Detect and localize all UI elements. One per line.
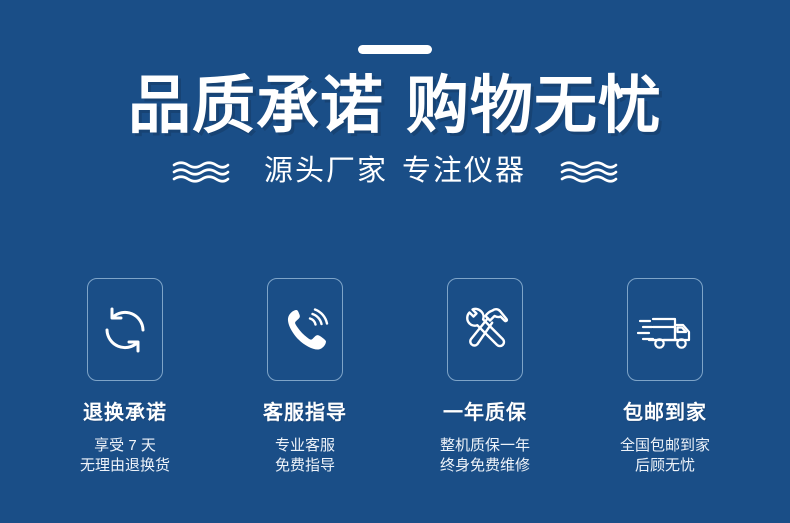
subtitle-part-1: 源头厂家 [264,155,388,187]
feature-title: 一年质保 [443,403,527,423]
feature-list: 退换承诺 享受 7 天 无理由退换货 客服指导 专业客服 [0,278,790,476]
feature-item-exchange: 退换承诺 享受 7 天 无理由退换货 [87,278,163,476]
feature-desc-line-2: 免费指导 [275,456,335,476]
feature-desc-line-1: 享受 7 天 [80,436,170,456]
subtitle-part-2: 专注仪器 [402,155,526,187]
feature-desc-line-2: 终身免费维修 [440,456,530,476]
feature-description: 全国包邮到家 后顾无忧 [620,436,710,476]
icon-box [87,278,163,381]
feature-title: 退换承诺 [83,403,167,423]
feature-item-shipping: 包邮到家 全国包邮到家 后顾无忧 [627,278,703,476]
feature-description: 专业客服 免费指导 [275,436,335,476]
icon-box [267,278,343,381]
promo-banner: 品质承诺购物无忧 源头厂家专注仪器 [0,0,790,523]
icon-box [447,278,523,381]
subtitle: 源头厂家专注仪器 [264,157,526,186]
feature-desc-line-1: 全国包邮到家 [620,436,710,456]
headline-part-1: 品质承诺 [128,71,384,141]
feature-desc-line-1: 专业客服 [275,436,335,456]
feature-desc-line-2: 后顾无忧 [620,456,710,476]
wave-lines-icon-left [172,159,230,185]
subtitle-row: 源头厂家专注仪器 [0,157,790,186]
feature-description: 整机质保一年 终身免费维修 [440,436,530,476]
wrench-hammer-icon [459,304,511,356]
phone-call-icon [279,304,331,356]
icon-box [627,278,703,381]
feature-title: 客服指导 [263,403,347,423]
delivery-truck-icon [637,304,693,356]
wave-lines-icon-right [560,159,618,185]
decorative-dash [358,45,432,54]
feature-desc-line-1: 整机质保一年 [440,436,530,456]
feature-description: 享受 7 天 无理由退换货 [80,436,170,476]
feature-desc-line-2: 无理由退换货 [80,456,170,476]
feature-title: 包邮到家 [623,403,707,423]
feature-item-support: 客服指导 专业客服 免费指导 [267,278,343,476]
feature-item-warranty: 一年质保 整机质保一年 终身免费维修 [447,278,523,476]
page-title: 品质承诺购物无忧 [0,75,790,138]
exchange-refresh-icon [99,304,151,356]
headline-part-2: 购物无忧 [406,71,662,141]
